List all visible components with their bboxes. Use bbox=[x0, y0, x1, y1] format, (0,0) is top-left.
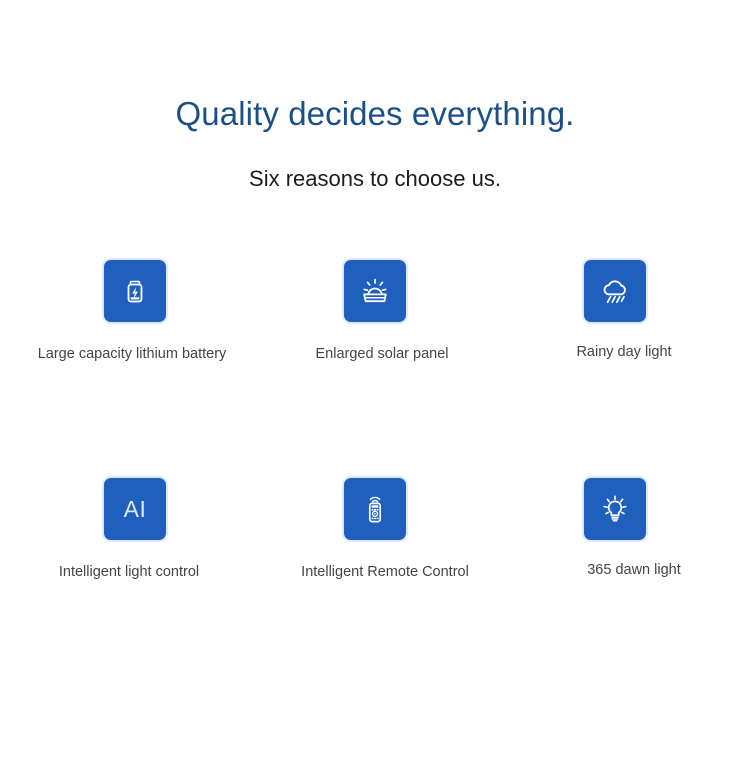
feature-label: Intelligent light control bbox=[59, 564, 199, 581]
feature-row: AI Intelligent light control bbox=[0, 478, 750, 580]
page-subtitle: Six reasons to choose us. bbox=[0, 166, 750, 192]
feature-item-solar-panel: Enlarged solar panel bbox=[250, 260, 500, 362]
light-bulb-icon bbox=[598, 492, 632, 526]
feature-icon-tile: AI bbox=[104, 478, 166, 540]
feature-label: Large capacity lithium battery bbox=[38, 346, 227, 363]
feature-item-remote-control: Intelligent Remote Control bbox=[250, 478, 500, 580]
ai-text-icon: AI bbox=[124, 498, 147, 521]
feature-page: Quality decides everything. Six reasons … bbox=[0, 0, 750, 759]
feature-label: Enlarged solar panel bbox=[315, 346, 448, 363]
feature-item-rainy-day: Rainy day light bbox=[500, 260, 750, 362]
rain-cloud-icon bbox=[598, 274, 632, 308]
solar-panel-icon bbox=[358, 274, 392, 308]
feature-row: Large capacity lithium battery bbox=[0, 260, 750, 362]
feature-icon-tile bbox=[104, 260, 166, 322]
page-title: Quality decides everything. bbox=[0, 94, 750, 134]
feature-icon-tile bbox=[344, 260, 406, 322]
feature-icon-tile bbox=[344, 478, 406, 540]
feature-item-battery: Large capacity lithium battery bbox=[0, 260, 250, 362]
remote-control-icon bbox=[358, 492, 392, 526]
feature-icon-tile bbox=[584, 478, 646, 540]
feature-item-dawn-light: 365 dawn light bbox=[500, 478, 750, 580]
feature-label: 365 dawn light bbox=[587, 562, 681, 579]
feature-grid: Large capacity lithium battery bbox=[0, 260, 750, 581]
feature-label: Intelligent Remote Control bbox=[301, 564, 469, 581]
feature-icon-tile bbox=[584, 260, 646, 322]
feature-label: Rainy day light bbox=[576, 344, 671, 361]
battery-charging-icon bbox=[119, 275, 151, 307]
feature-item-intelligent-light-control: AI Intelligent light control bbox=[0, 478, 250, 580]
